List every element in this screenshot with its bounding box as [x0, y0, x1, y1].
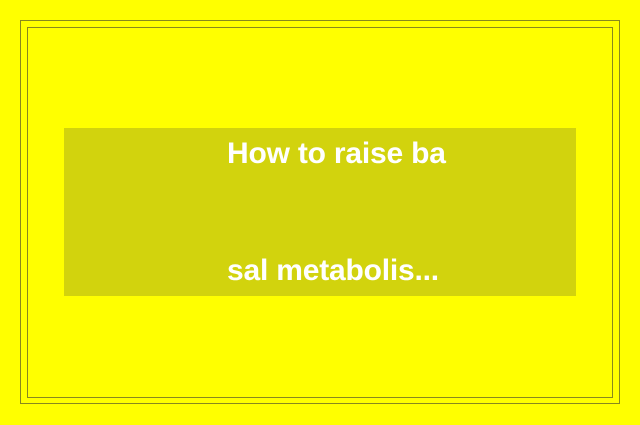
- title-text-block: How to raise ba sal metabolis...: [227, 56, 413, 368]
- thumbnail-canvas: How to raise ba sal metabolis...: [0, 0, 640, 425]
- title-banner[interactable]: How to raise ba sal metabolis...: [64, 128, 576, 296]
- title-line-1: How to raise ba: [227, 134, 413, 173]
- title-line-2: sal metabolis...: [227, 251, 413, 290]
